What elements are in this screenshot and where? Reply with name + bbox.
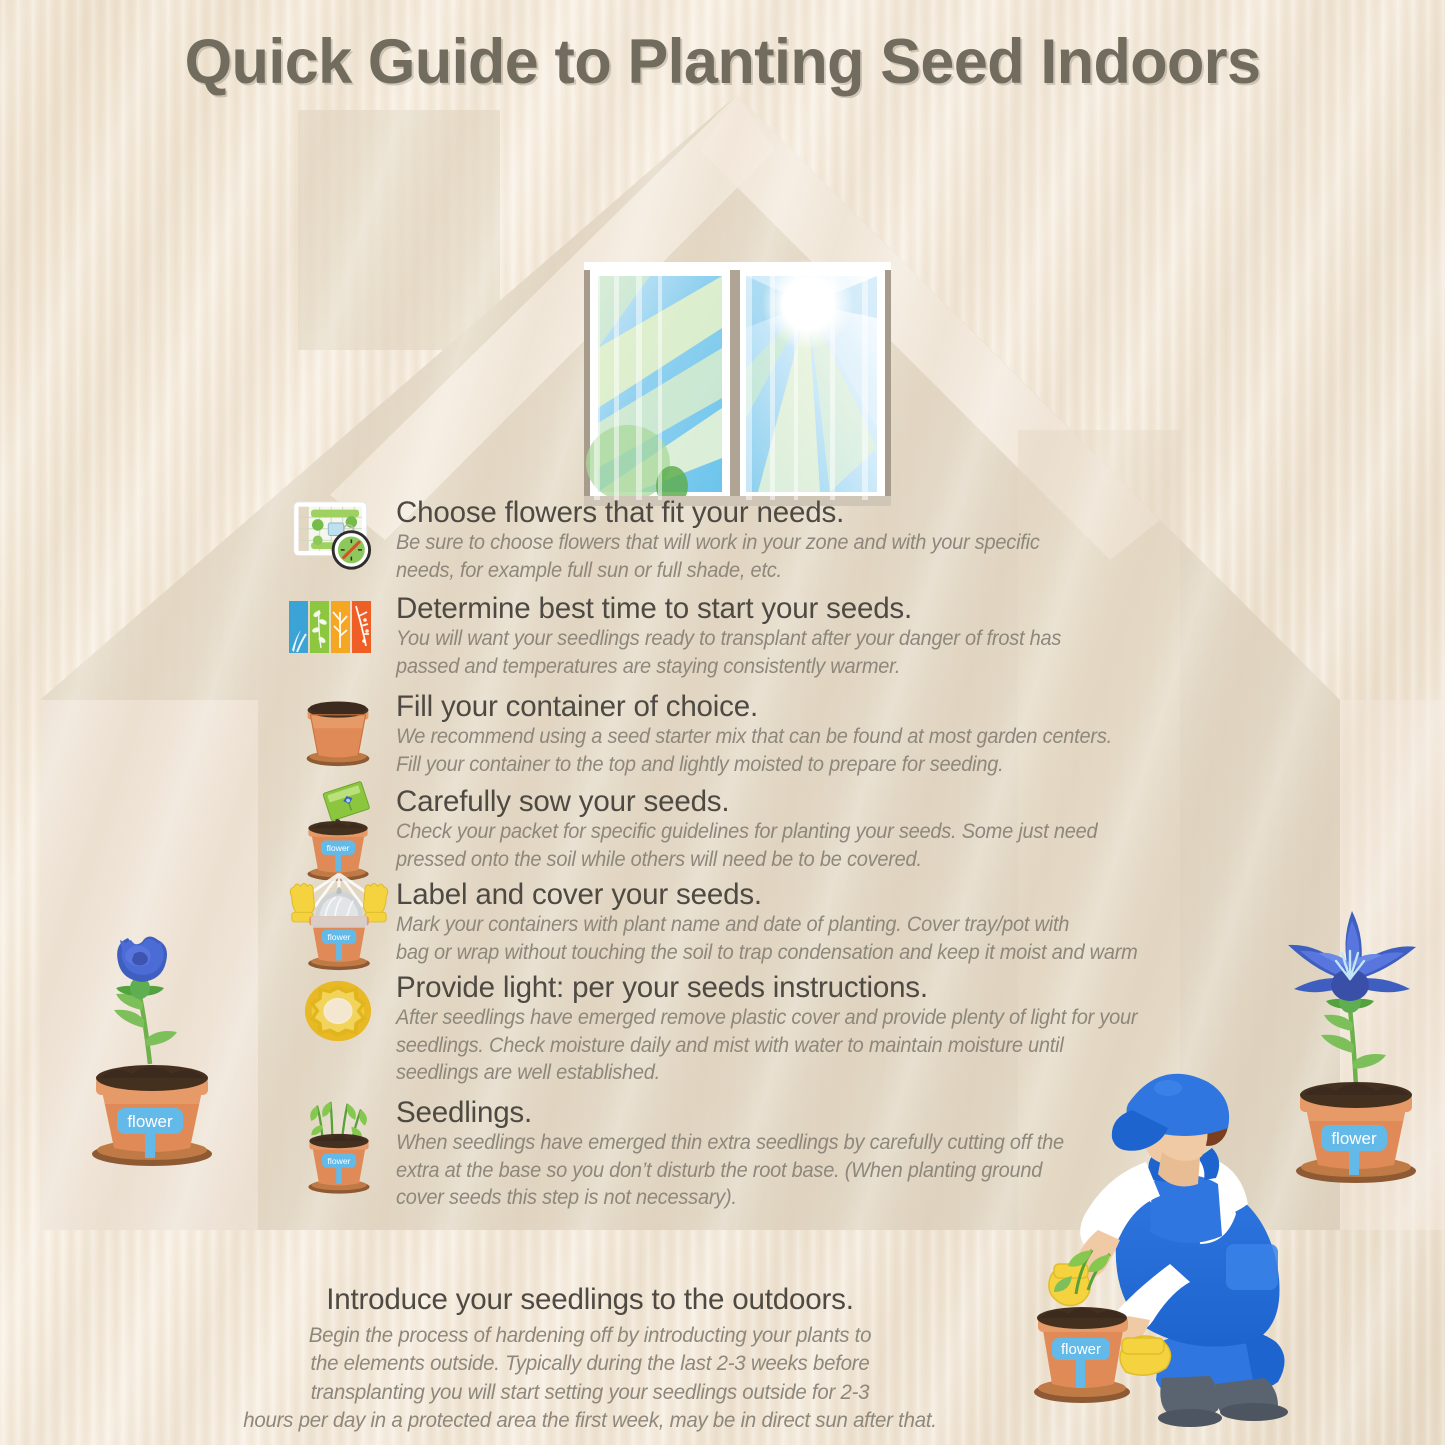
outro-heading: Introduce your seedlings to the outdoors… — [157, 1283, 1024, 1317]
step-heading: Carefully sow your seeds. — [396, 787, 1206, 818]
outro-body: Begin the process of hardening off by in… — [172, 1321, 1008, 1435]
svg-text:flower: flower — [127, 1112, 173, 1131]
covered-pot-gloves-icon: flower — [286, 868, 386, 977]
window-illustration — [580, 258, 895, 510]
outro-section: Introduce your seedlings to the outdoors… — [150, 1283, 1030, 1435]
step-heading: Choose flowers that fit your needs. — [396, 498, 1206, 529]
step-body: We recommend using a seed starter mix th… — [396, 723, 1222, 779]
svg-text:flower: flower — [327, 843, 350, 853]
svg-text:flower: flower — [328, 1156, 351, 1166]
step-heading: Determine best time to start your seeds. — [396, 594, 1206, 625]
step-item: Choose flowers that fit your needs. Be s… — [288, 498, 1218, 594]
infographic-poster: Quick Guide to Planting Seed Indoors — [0, 0, 1445, 1445]
step-item: Fill your container of choice. We recomm… — [288, 692, 1218, 787]
step-item: flower Label and cover your seeds. Mark … — [288, 880, 1218, 973]
step-body: Be sure to choose flowers that will work… — [396, 529, 1222, 585]
potted-blue-rose: flower — [62, 918, 242, 1170]
step-item: Determine best time to start your seeds.… — [288, 594, 1218, 692]
sun-light-ring-icon — [302, 975, 402, 1052]
step-body: Mark your containers with plant name and… — [396, 911, 1222, 967]
page-title: Quick Guide to Planting Seed Indoors — [22, 26, 1424, 98]
svg-text:flower: flower — [1061, 1341, 1101, 1358]
step-item: flower Carefully sow your seeds. Check y… — [288, 787, 1218, 880]
step-heading: Provide light: per your seeds instructio… — [396, 973, 1206, 1004]
kneeling-gardener: flower — [1010, 1032, 1340, 1432]
step-body: You will want your seedlings ready to tr… — [396, 625, 1222, 681]
seedlings-pot-icon: flower — [296, 1090, 396, 1199]
step-heading: Fill your container of choice. — [396, 692, 1206, 723]
four-seasons-icon — [288, 600, 388, 659]
svg-text:flower: flower — [327, 932, 350, 942]
filled-pot-icon — [298, 692, 398, 773]
step-heading: Label and cover your seeds. — [396, 880, 1206, 911]
garden-plan-compass-icon — [288, 498, 388, 578]
step-body: Check your packet for specific guideline… — [396, 818, 1222, 874]
